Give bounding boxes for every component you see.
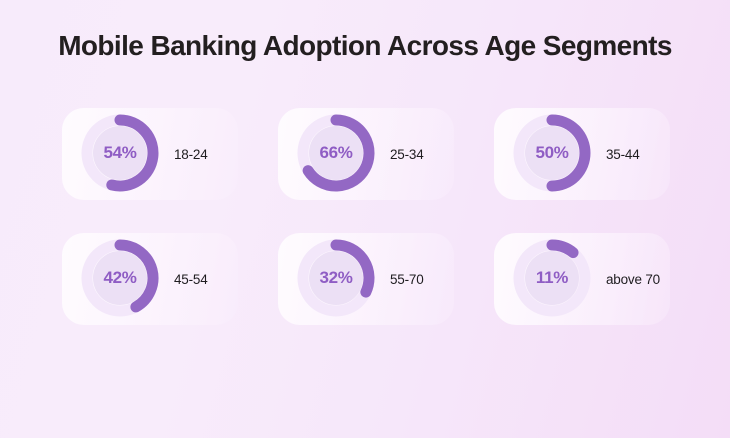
- donut-gauge: 50%: [504, 105, 600, 201]
- segment-card[interactable]: 54%18-24: [62, 108, 238, 200]
- segment-card[interactable]: 32%55-70: [278, 233, 454, 325]
- gauge-value-text: 32%: [288, 230, 384, 326]
- segment-card[interactable]: 50%35-44: [494, 108, 670, 200]
- segment-card[interactable]: 42%45-54: [62, 233, 238, 325]
- segment-label: 25-34: [390, 147, 424, 162]
- segment-card[interactable]: 66%25-34: [278, 108, 454, 200]
- segment-label: 18-24: [174, 147, 208, 162]
- gauge-value-text: 42%: [72, 230, 168, 326]
- segment-card[interactable]: 11%above 70: [494, 233, 670, 325]
- donut-gauge: 54%: [72, 105, 168, 201]
- gauge-value-text: 11%: [504, 230, 600, 326]
- page-title: Mobile Banking Adoption Across Age Segme…: [0, 30, 730, 62]
- segment-label: above 70: [606, 272, 660, 287]
- gauge-value-text: 50%: [504, 105, 600, 201]
- donut-gauge: 32%: [288, 230, 384, 326]
- infographic-canvas: Mobile Banking Adoption Across Age Segme…: [0, 0, 730, 438]
- segment-card-grid: 54%18-2466%25-3450%35-4442%45-5432%55-70…: [62, 108, 670, 325]
- gauge-value-text: 66%: [288, 105, 384, 201]
- gauge-value-text: 54%: [72, 105, 168, 201]
- segment-label: 55-70: [390, 272, 424, 287]
- segment-label: 35-44: [606, 147, 640, 162]
- segment-label: 45-54: [174, 272, 208, 287]
- donut-gauge: 66%: [288, 105, 384, 201]
- donut-gauge: 42%: [72, 230, 168, 326]
- donut-gauge: 11%: [504, 230, 600, 326]
